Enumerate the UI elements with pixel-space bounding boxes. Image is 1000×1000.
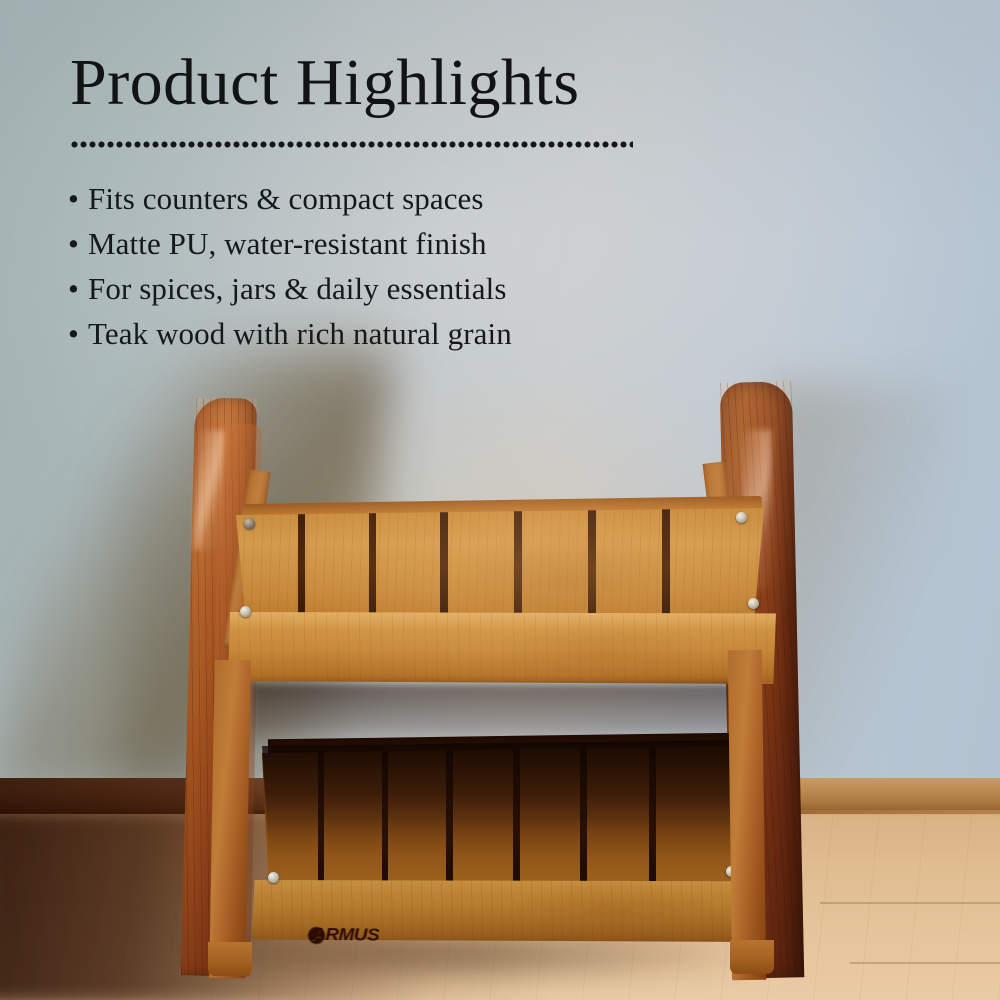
right-leg-post [728, 650, 767, 980]
brand-logo-text: ARMUS [312, 925, 422, 948]
screw-head [268, 872, 279, 883]
bottom-shelf-shadow [262, 740, 742, 860]
left-leg-post [209, 660, 251, 979]
product-shelf-rack: ARMUS [0, 0, 1000, 1000]
right-foot [730, 940, 774, 974]
screw-head [748, 598, 759, 609]
top-deck-grain [236, 508, 764, 626]
left-panel-gloss [194, 430, 224, 551]
product-highlights-image: Product Highlights •Fits counters & comp… [0, 0, 1000, 1000]
left-foot [208, 942, 252, 976]
screw-head [240, 606, 251, 617]
screw-head [736, 512, 747, 523]
top-front-rail-grain [228, 612, 776, 684]
screw-head [244, 518, 255, 529]
